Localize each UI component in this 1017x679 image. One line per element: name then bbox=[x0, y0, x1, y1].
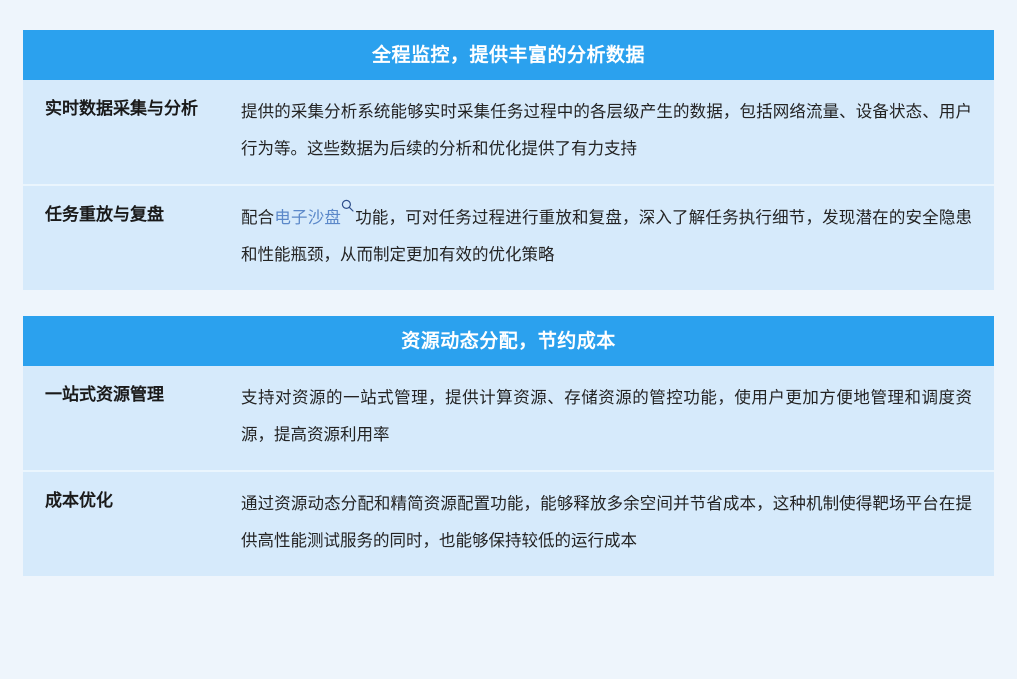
row-label: 成本优化 bbox=[45, 486, 241, 516]
row-description: 通过资源动态分配和精简资源配置功能，能够释放多余空间并节省成本，这种机制使得靶场… bbox=[241, 486, 972, 560]
row-description: 配合电子沙盘功能，可对任务过程进行重放和复盘，深入了解任务执行细节，发现潜在的安… bbox=[241, 200, 972, 274]
table-header-title: 全程监控，提供丰富的分析数据 bbox=[372, 46, 645, 65]
table-row: 实时数据采集与分析 提供的采集分析系统能够实时采集任务过程中的各层级产生的数据，… bbox=[23, 80, 994, 186]
table-row: 一站式资源管理 支持对资源的一站式管理，提供计算资源、存储资源的管控功能，使用户… bbox=[23, 366, 994, 472]
feature-table-monitoring: 全程监控，提供丰富的分析数据 实时数据采集与分析 提供的采集分析系统能够实时采集… bbox=[23, 30, 994, 290]
table-body-resource: 一站式资源管理 支持对资源的一站式管理，提供计算资源、存储资源的管控功能，使用户… bbox=[23, 366, 994, 576]
row-description-suffix: 功能，可对任务过程进行重放和复盘，深入了解任务执行细节，发现潜在的安全隐患和性能… bbox=[241, 209, 972, 264]
row-description: 提供的采集分析系统能够实时采集任务过程中的各层级产生的数据，包括网络流量、设备状… bbox=[241, 94, 972, 168]
row-label: 任务重放与复盘 bbox=[45, 200, 241, 230]
table-header-resource: 资源动态分配，节约成本 bbox=[23, 316, 994, 366]
table-body-monitoring: 实时数据采集与分析 提供的采集分析系统能够实时采集任务过程中的各层级产生的数据，… bbox=[23, 80, 994, 290]
row-description-prefix: 配合 bbox=[241, 209, 274, 227]
page-container: 全程监控，提供丰富的分析数据 实时数据采集与分析 提供的采集分析系统能够实时采集… bbox=[0, 0, 1017, 679]
row-label: 实时数据采集与分析 bbox=[45, 94, 241, 124]
table-header-title: 资源动态分配，节约成本 bbox=[401, 332, 616, 351]
search-icon[interactable] bbox=[341, 193, 354, 213]
electronic-sandbox-link[interactable]: 电子沙盘 bbox=[274, 209, 341, 227]
row-description: 支持对资源的一站式管理，提供计算资源、存储资源的管控功能，使用户更加方便地管理和… bbox=[241, 380, 972, 454]
table-row: 成本优化 通过资源动态分配和精简资源配置功能，能够释放多余空间并节省成本，这种机… bbox=[23, 472, 994, 576]
row-label: 一站式资源管理 bbox=[45, 380, 241, 410]
table-row: 任务重放与复盘 配合电子沙盘功能，可对任务过程进行重放和复盘，深入了解任务执行细… bbox=[23, 186, 994, 290]
table-header-monitoring: 全程监控，提供丰富的分析数据 bbox=[23, 30, 994, 80]
feature-table-resource: 资源动态分配，节约成本 一站式资源管理 支持对资源的一站式管理，提供计算资源、存… bbox=[23, 316, 994, 576]
